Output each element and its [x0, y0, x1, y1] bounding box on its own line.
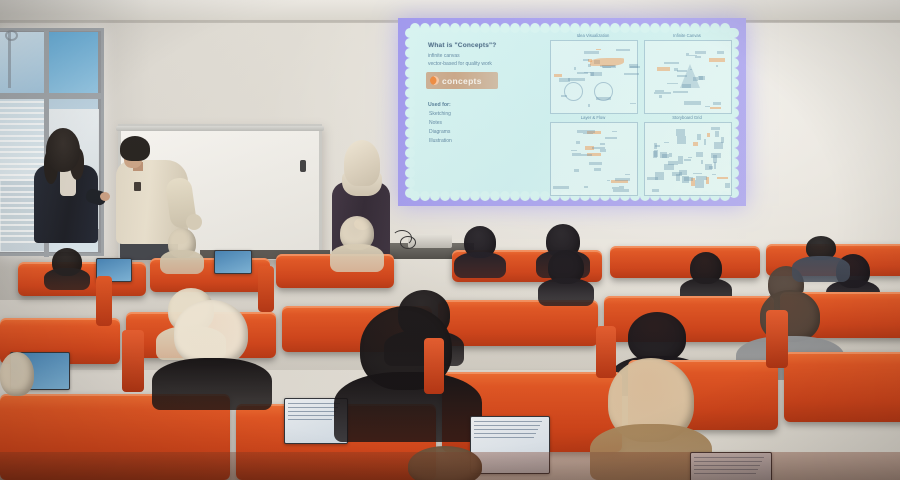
blind-slat: [0, 163, 44, 165]
slide-sketch-mark: [725, 183, 730, 189]
slide-sketch-mark: [697, 134, 702, 140]
slide-edge-scallop: [470, 191, 480, 201]
slide-sketch-mark: [709, 58, 725, 62]
slide-edge-scallop: [405, 188, 415, 198]
slide-edge-scallop: [470, 23, 480, 33]
slide-sketch-mark: [577, 72, 587, 74]
slide-edge-scallop: [680, 23, 690, 33]
tablet-text-line: [474, 421, 542, 422]
student-white-hijab-front-shoulders: [152, 358, 272, 410]
slide-sketch-mark: [615, 178, 630, 181]
presenter-sweater-hair: [120, 136, 150, 161]
slide-edge-scallop: [490, 191, 500, 201]
slide-edge-scallop: [440, 191, 450, 201]
slide-used-for-item: Notes: [429, 120, 442, 126]
projected-slide: What is "Concepts"? infinite canvas vect…: [398, 18, 746, 210]
slide-edge-scallop: [620, 23, 630, 33]
slide-sketch-mark: [667, 83, 678, 84]
student-cream-hijab-shoulders-2: [330, 244, 384, 272]
slide-sketch-mark: [664, 164, 674, 170]
slide-edge-scallop: [540, 23, 550, 33]
slide-bicycle-wheel-icon: [594, 82, 613, 101]
slide-sketch-mark: [571, 150, 577, 152]
whiteboard-magnet-icon: [300, 160, 306, 172]
student-black-hijab-shoulders-row2b: [538, 278, 594, 306]
slide-edge-scallop: [530, 23, 540, 33]
slide-edge-scallop: [580, 23, 590, 33]
slide-edge-scallop: [430, 191, 440, 201]
tablet-text-line: [288, 407, 338, 408]
blind-slat: [0, 146, 44, 148]
concepts-logo: concepts: [426, 72, 498, 89]
slide-edge-scallop: [700, 23, 710, 33]
slide-edge-scallop: [690, 23, 700, 33]
slide-sketch-mark: [676, 129, 685, 136]
slide-edge-scallop: [405, 108, 415, 118]
slide-edge-scallop: [450, 191, 460, 201]
slide-sketch-mark: [717, 177, 728, 179]
slide-edge-scallop: [500, 23, 510, 33]
student-cream-hijab-shoulders: [160, 250, 204, 274]
slide-sketch-mark: [589, 162, 602, 165]
slide-sketch-mark: [693, 142, 699, 146]
slide-edge-scallop: [590, 23, 600, 33]
slide-edge-scallop: [405, 168, 415, 178]
presenter-sweater-badge: [134, 182, 141, 191]
slide-edge-scallop: [660, 23, 670, 33]
slide-edge-scallop: [650, 23, 660, 33]
blind-slat: [0, 129, 44, 131]
slide-sketch-mark: [704, 139, 706, 145]
blind-slat: [0, 101, 44, 103]
slide-sketch-mark: [715, 131, 719, 137]
slide-sketch-mark: [672, 172, 682, 176]
slide-edge-scallop: [405, 158, 415, 168]
slide-sketch-mark: [574, 169, 579, 171]
slide-sketch-mark: [707, 133, 710, 137]
slide-panel-caption: Infinite Canvas: [644, 33, 730, 38]
bench-divider-2: [258, 266, 274, 312]
presenter-center-hijab: [344, 140, 380, 186]
slide-sketch-mark: [616, 49, 630, 51]
slide-sketch-mark: [592, 147, 605, 149]
slide-sketch-mark: [684, 177, 693, 181]
blind-slat: [0, 123, 44, 125]
slide-sketch-mark: [568, 78, 586, 80]
slide-sketch-mark: [584, 186, 588, 189]
bench-divider-5: [122, 330, 144, 392]
slide-sketch-mark: [596, 49, 601, 50]
slide-edge-scallop: [510, 23, 520, 33]
slide-sketch-mark: [695, 180, 704, 188]
slide-edge-scallop: [710, 23, 720, 33]
slide-sketch-mark: [629, 64, 638, 68]
slide-sketch-mark: [581, 154, 592, 156]
slide-sketch-mark: [689, 55, 698, 56]
slide-used-for-label: Used for:: [428, 102, 451, 108]
slide-sketch-mark: [583, 133, 593, 134]
slide-sketch-mark: [605, 137, 617, 139]
slide-sketch-mark: [630, 103, 636, 104]
av-cable-2: [400, 236, 416, 249]
slide-sketch-mark: [600, 143, 605, 145]
slide-sketch-mark: [714, 162, 717, 170]
bench-divider-6: [766, 310, 788, 368]
window-latch-ring-icon: [5, 30, 18, 41]
slide-edge-scallop: [405, 58, 415, 68]
student-tablet-row1-b: [214, 250, 252, 274]
slide-sketch-mark: [607, 180, 609, 181]
slide-sketch-mark: [574, 67, 576, 70]
blind-slat: [0, 107, 44, 109]
slide-edge-scallop: [670, 23, 680, 33]
slide-edge-scallop: [729, 28, 739, 38]
slide-edge-scallop: [405, 68, 415, 78]
tablet-text-line: [288, 403, 340, 404]
slide-edge-scallop: [460, 23, 470, 33]
slide-sketch-mark: [652, 189, 659, 192]
tablet-text-line: [474, 433, 536, 434]
slide-edge-scallop: [405, 38, 415, 48]
slide-edge-scallop: [560, 23, 570, 33]
bench-row3-right3: [784, 352, 900, 422]
blind-slat: [0, 118, 44, 120]
slide-edge-scallop: [405, 118, 415, 128]
slide-edge-scallop: [520, 191, 530, 201]
slide-sketch-mark: [684, 101, 700, 105]
slide-bicycle-wheel-icon: [564, 82, 583, 101]
slide-sketch-mark: [712, 174, 715, 175]
slide-subtitle-2: vector-based for quality work: [428, 61, 540, 67]
slide-panel-caption: Idea Visualization: [550, 33, 636, 38]
slide-sketch-mark: [705, 106, 710, 107]
slide-edge-scallop: [405, 48, 415, 58]
slide-edge-scallop: [460, 191, 470, 201]
slide-edge-scallop: [520, 23, 530, 33]
slide-sketch-mark: [653, 151, 657, 158]
slide-edge-scallop: [430, 23, 440, 33]
student-black-hijab-shoulders: [44, 268, 90, 290]
slide-sketch-mark: [677, 136, 686, 144]
slide-sketch-mark: [716, 65, 718, 67]
window-pane-top-left: [0, 32, 44, 94]
presenter-left-hand: [100, 192, 110, 201]
tablet-text-line: [474, 429, 538, 430]
bench-row2-right: [438, 300, 598, 346]
tablet-text-line: [288, 415, 334, 416]
slide-edge-scallop: [405, 178, 415, 188]
bench-divider-1: [96, 276, 112, 326]
slide-sketch-mark: [713, 102, 721, 104]
slide-sketch-mark: [711, 127, 720, 130]
slide-edge-scallop: [600, 23, 610, 33]
student-black-hijab-head-row2c: [628, 312, 686, 362]
slide-sketch-mark: [655, 172, 663, 180]
student-partial-left-head: [0, 352, 34, 396]
slide-sketch-mark: [696, 152, 703, 158]
slide-sketch-mark: [673, 91, 688, 93]
tablet-text-line: [288, 419, 332, 420]
slide-edge-scallop: [405, 138, 415, 148]
slide-sketch-mark: [654, 143, 657, 149]
slide-sketch-mark: [664, 62, 679, 63]
slide-sketch-mark: [717, 51, 725, 54]
slide-sketch-mark: [684, 159, 692, 161]
slide-edge-scallop: [570, 23, 580, 33]
slide-sketch-mark: [713, 155, 717, 162]
slide-edge-scallop: [405, 98, 415, 108]
slide-sketch-mark: [662, 154, 670, 158]
slide-sketch-mark: [701, 160, 703, 165]
slide-sketch-mark: [705, 164, 712, 171]
presenter-left-hair: [46, 128, 80, 172]
slide-edge-scallop: [490, 23, 500, 33]
slide-title: What is "Concepts"?: [428, 42, 536, 49]
slide-used-for-item: Diagrams: [429, 129, 450, 135]
slide-sketch-mark: [674, 68, 678, 71]
whiteboard-pen-tray: [116, 126, 324, 131]
bench-row1-r3: [610, 246, 760, 278]
slide-sketch-mark: [619, 186, 624, 189]
slide-sketch-mark: [657, 67, 670, 71]
bench-divider-4: [596, 326, 616, 378]
slide-sketch-mark: [600, 149, 606, 152]
presenter-sweater-elbow: [186, 214, 202, 230]
slide-edge-scallop: [610, 23, 620, 33]
slide-sketch-mark: [695, 51, 706, 54]
blind-slat: [0, 140, 44, 142]
slide-edge-scallop: [540, 191, 550, 201]
blind-slat: [0, 151, 44, 153]
slide-sketch-mark: [710, 107, 720, 109]
concepts-circle-logo-icon: [430, 76, 439, 85]
slide-edge-scallop: [405, 128, 415, 138]
slide-edge-scallop: [440, 23, 450, 33]
slide-sketch-mark: [553, 186, 568, 189]
slide-sketch-mark: [613, 189, 629, 192]
slide-sketch-mark: [714, 142, 723, 150]
bench-divider-3: [424, 338, 444, 394]
slide-edge-scallop: [480, 23, 490, 33]
tablet-text-line: [288, 411, 336, 412]
slide-sketch-mark: [584, 51, 599, 54]
concepts-logo-text: concepts: [442, 76, 482, 86]
slide-sketch-mark: [554, 74, 562, 77]
student-black-hijab-shoulders-r1: [454, 252, 506, 278]
slide-panel-caption: Storyboard Grid: [644, 115, 730, 120]
slide-orange-swoosh: [590, 58, 624, 66]
slide-sketch-mark: [611, 180, 628, 183]
slide-edge-scallop: [550, 23, 560, 33]
slide-edge-scallop: [500, 191, 510, 201]
slide-edge-scallop: [530, 191, 540, 201]
blind-slat: [0, 135, 44, 137]
slide-sketch-mark: [585, 59, 589, 61]
slide-sketch-mark: [594, 168, 601, 171]
slide-edge-scallop: [405, 28, 415, 38]
slide-used-for-item: Sketching: [429, 111, 451, 117]
slide-sketch-mark: [624, 73, 638, 75]
tablet-text-line: [474, 425, 540, 426]
student-navy-jacket-shoulders: [792, 256, 850, 282]
floor-strip: [0, 452, 900, 480]
slide-triangle-shape: [680, 64, 700, 88]
slide-edge-scallop: [405, 78, 415, 88]
slide-panel-caption: Layer & Flow: [550, 115, 636, 120]
slide-edge-scallop: [420, 23, 430, 33]
slide-edge-scallop: [630, 23, 640, 33]
student-white-hijab-front-head: [174, 300, 248, 366]
slide-edge-scallop: [405, 148, 415, 158]
slide-sketch-mark: [612, 187, 619, 188]
slide-sketch-mark: [576, 141, 580, 143]
blind-slat: [0, 112, 44, 114]
slide-sketch-mark: [678, 156, 683, 164]
lecture-hall-photo: What is "Concepts"? infinite canvas vect…: [0, 0, 900, 480]
slide-edge-scallop: [510, 191, 520, 201]
slide-edge-scallop: [480, 191, 490, 201]
slide-used-for-item: Illustration: [429, 138, 452, 144]
blind-slat: [0, 157, 44, 159]
slide-edge-scallop: [640, 23, 650, 33]
student-black-hijab-front-shoulders: [334, 372, 482, 442]
slide-sketch-mark: [591, 73, 602, 76]
slide-sketch-mark: [588, 104, 590, 107]
slide-edge-scallop: [420, 191, 430, 201]
tablet-text-line: [474, 437, 534, 438]
slide-sketch-mark: [612, 131, 617, 132]
slide-edge-scallop: [405, 88, 415, 98]
slide-sketch-mark: [625, 174, 629, 175]
slide-sketch-mark: [686, 53, 689, 56]
slide-sketch-mark: [693, 173, 702, 174]
slide-sketch-mark: [654, 92, 671, 94]
slide-edge-scallop: [450, 23, 460, 33]
window-pane-top-right: [48, 32, 98, 94]
slide-sketch-mark: [659, 95, 662, 98]
slide-sketch-mark: [572, 153, 581, 156]
slide-sketch-mark: [695, 56, 701, 58]
window-mullion-horizontal: [0, 93, 101, 99]
slide-subtitle-1: infinite canvas: [428, 53, 540, 59]
slide-sketch-mark: [664, 142, 669, 143]
